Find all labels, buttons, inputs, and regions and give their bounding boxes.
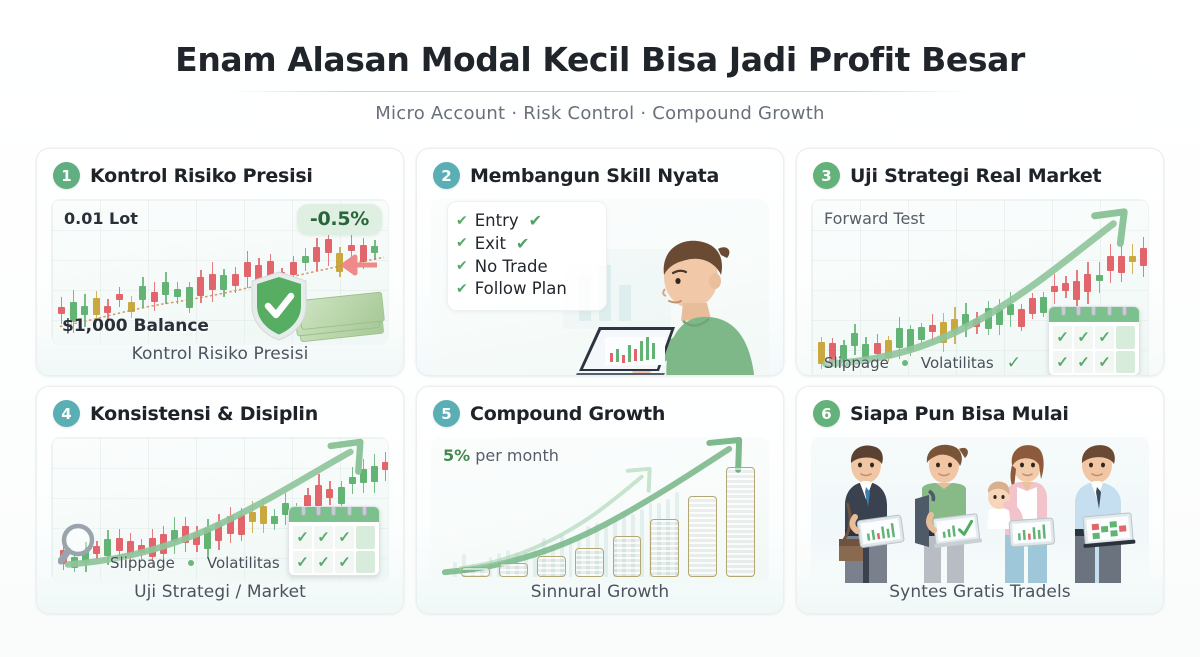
card-3[interactable]: 3 Uji Strategi Real Market Forward Test … — [796, 148, 1164, 376]
candle — [271, 509, 278, 531]
card-5-chart-panel: 5% per month — [431, 437, 769, 583]
lot-size-label: 0.01 Lot — [64, 209, 138, 228]
drawdown-pill: -0.5% — [297, 204, 382, 235]
candle — [1129, 244, 1136, 275]
candle — [182, 517, 189, 552]
candle — [193, 526, 200, 552]
candle — [996, 299, 1003, 335]
card-4[interactable]: 4 Konsistensi & Disiplin Slippage Volati… — [36, 386, 404, 614]
volatilitas-label: Volatilitas — [207, 554, 280, 572]
infographic-page: Enam Alasan Modal Kecil Bisa Jadi Profit… — [0, 0, 1200, 657]
candle — [973, 312, 980, 333]
card-2-badge: 2 — [433, 162, 460, 189]
coin-stack — [688, 496, 717, 577]
candle — [215, 514, 222, 549]
card-4-body: Slippage Volatilitas ✓ — [37, 435, 403, 587]
candle — [326, 481, 333, 505]
candle — [1051, 274, 1058, 304]
balance-label: $1,000 Balance — [62, 316, 209, 336]
shield-check-icon — [248, 270, 310, 342]
coin-stack — [499, 563, 528, 577]
card-3-title: Uji Strategi Real Market — [850, 165, 1101, 187]
check-icon: ✔ — [456, 212, 468, 231]
check-icon: ✔ — [529, 210, 542, 232]
card-1-badge: 1 — [53, 162, 80, 189]
page-subtitle: Micro Account · Risk Control · Compound … — [0, 103, 1200, 124]
slippage-label: Slippage — [824, 354, 889, 372]
checklist-item-label: Entry — [475, 210, 519, 233]
red-arrow-icon — [342, 254, 378, 276]
person-mother-with-baby — [983, 443, 1061, 583]
card-2-header: 2 Membangun Skill Nyata — [417, 149, 783, 197]
check-icon: ✔ — [456, 257, 468, 276]
card-1-body: 0.01 Lot $1,000 Balance — [37, 197, 403, 349]
check-icon: ✔ — [456, 280, 468, 299]
person-office-worker — [1061, 443, 1139, 583]
card-3-statusline: Slippage Volatilitas ✓ — [824, 353, 1021, 373]
checklist-item[interactable]: ✔No Trade — [456, 256, 596, 279]
coin-stack — [537, 556, 566, 577]
candle — [238, 508, 245, 541]
volatilitas-label: Volatilitas — [921, 354, 994, 372]
check-icon: ✓ — [1007, 353, 1021, 373]
coin-stack — [461, 567, 490, 577]
separator-dot-icon — [188, 560, 194, 566]
title-divider — [230, 91, 970, 92]
candle — [349, 467, 356, 495]
card-1-header: 1 Kontrol Risiko Presisi — [37, 149, 403, 197]
calendar-rings — [1049, 306, 1139, 316]
card-6-title: Siapa Pun Bisa Mulai — [850, 403, 1069, 425]
coin-stack-icon — [461, 457, 755, 577]
card-1[interactable]: 1 Kontrol Risiko Presisi 0.01 Lot $1,000… — [36, 148, 404, 376]
separator-dot-icon — [902, 360, 908, 366]
calendar-grid: ✓✓✓ ✓✓✓ — [1049, 322, 1139, 376]
candle — [382, 452, 389, 482]
checklist-item[interactable]: ✔Exit✔ — [456, 233, 596, 256]
background-bar — [453, 562, 457, 577]
trading-rules-checklist: ✔Entry✔✔Exit✔✔No Trade✔Follow Plan — [447, 201, 607, 311]
candle — [371, 454, 378, 493]
page-title: Enam Alasan Modal Kecil Bisa Jadi Profit… — [0, 42, 1200, 78]
card-1-title: Kontrol Risiko Presisi — [90, 165, 313, 187]
check-icon: ✔ — [516, 233, 529, 255]
magnifier-icon — [58, 522, 104, 568]
coin-stack — [726, 467, 755, 577]
check-icon: ✔ — [456, 234, 468, 253]
candle — [1029, 293, 1036, 318]
candle — [1084, 262, 1091, 304]
candle — [1062, 276, 1069, 298]
calendar-check-icon: ✓✓✓ ✓✓✓ — [288, 506, 380, 576]
card-5[interactable]: 5 Compound Growth 5% per month — [416, 386, 784, 614]
card-5-footer: Sinnural Growth — [417, 571, 783, 613]
card-4-title: Konsistensi & Disiplin — [90, 403, 318, 425]
candle — [1073, 270, 1080, 311]
candle — [260, 498, 267, 532]
card-1-footer: Kontrol Risiko Presisi — [37, 333, 403, 375]
candle — [985, 301, 992, 335]
card-4-statusline: Slippage Volatilitas ✓ — [110, 553, 307, 573]
card-5-header: 5 Compound Growth — [417, 387, 783, 435]
candle — [962, 303, 969, 337]
candle — [1096, 262, 1103, 293]
card-6[interactable]: 6 Siapa Pun Bisa Mulai — [796, 386, 1164, 614]
coin-stack — [575, 548, 604, 577]
coin-stack — [613, 536, 642, 577]
cards-grid: 1 Kontrol Risiko Presisi 0.01 Lot $1,000… — [36, 148, 1164, 614]
candle — [204, 519, 211, 557]
candle — [249, 501, 256, 533]
candle — [1140, 237, 1147, 277]
card-4-header: 4 Konsistensi & Disiplin — [37, 387, 403, 435]
slippage-label: Slippage — [110, 554, 175, 572]
card-2[interactable]: 2 Membangun Skill Nyata — [416, 148, 784, 376]
checklist-item-label: No Trade — [475, 256, 548, 279]
card-5-title: Compound Growth — [470, 403, 665, 425]
candle — [1040, 292, 1047, 317]
candle — [360, 459, 367, 493]
candle — [1118, 246, 1125, 282]
card-4-chart-panel: Slippage Volatilitas ✓ — [51, 437, 389, 583]
calendar-check-icon: ✓✓✓ ✓✓✓ — [1048, 306, 1140, 376]
card-1-chart-panel: 0.01 Lot $1,000 Balance — [51, 199, 389, 345]
candle — [1007, 292, 1014, 327]
candle — [171, 517, 178, 554]
card-2-title: Membangun Skill Nyata — [470, 165, 719, 187]
card-4-footer: Uji Strategi / Market — [37, 571, 403, 613]
people-with-devices-icon — [821, 437, 1139, 583]
checklist-item-label: Exit — [475, 233, 506, 256]
card-6-badge: 6 — [813, 400, 840, 427]
candle — [1018, 304, 1025, 331]
card-6-scene — [811, 437, 1149, 583]
card-4-badge: 4 — [53, 400, 80, 427]
person-businessman — [827, 443, 905, 583]
checklist-item-label: Follow Plan — [475, 278, 567, 301]
candle — [227, 507, 234, 543]
person-student — [905, 443, 983, 583]
card-5-badge: 5 — [433, 400, 460, 427]
coin-stack — [650, 519, 679, 577]
card-6-header: 6 Siapa Pun Bisa Mulai — [797, 387, 1163, 435]
card-5-body: 5% per month — [417, 435, 783, 587]
checklist-item[interactable]: ✔Follow Plan — [456, 278, 596, 301]
checklist-item[interactable]: ✔Entry✔ — [456, 210, 596, 233]
calendar-rings — [289, 506, 379, 516]
header: Enam Alasan Modal Kecil Bisa Jadi Profit… — [0, 0, 1200, 124]
card-3-header: 3 Uji Strategi Real Market — [797, 149, 1163, 197]
card-3-badge: 3 — [813, 162, 840, 189]
candle — [1107, 244, 1114, 283]
forward-test-label: Forward Test — [824, 209, 925, 228]
card-6-body — [797, 435, 1163, 587]
calendar-grid: ✓✓✓ ✓✓✓ — [289, 522, 379, 576]
